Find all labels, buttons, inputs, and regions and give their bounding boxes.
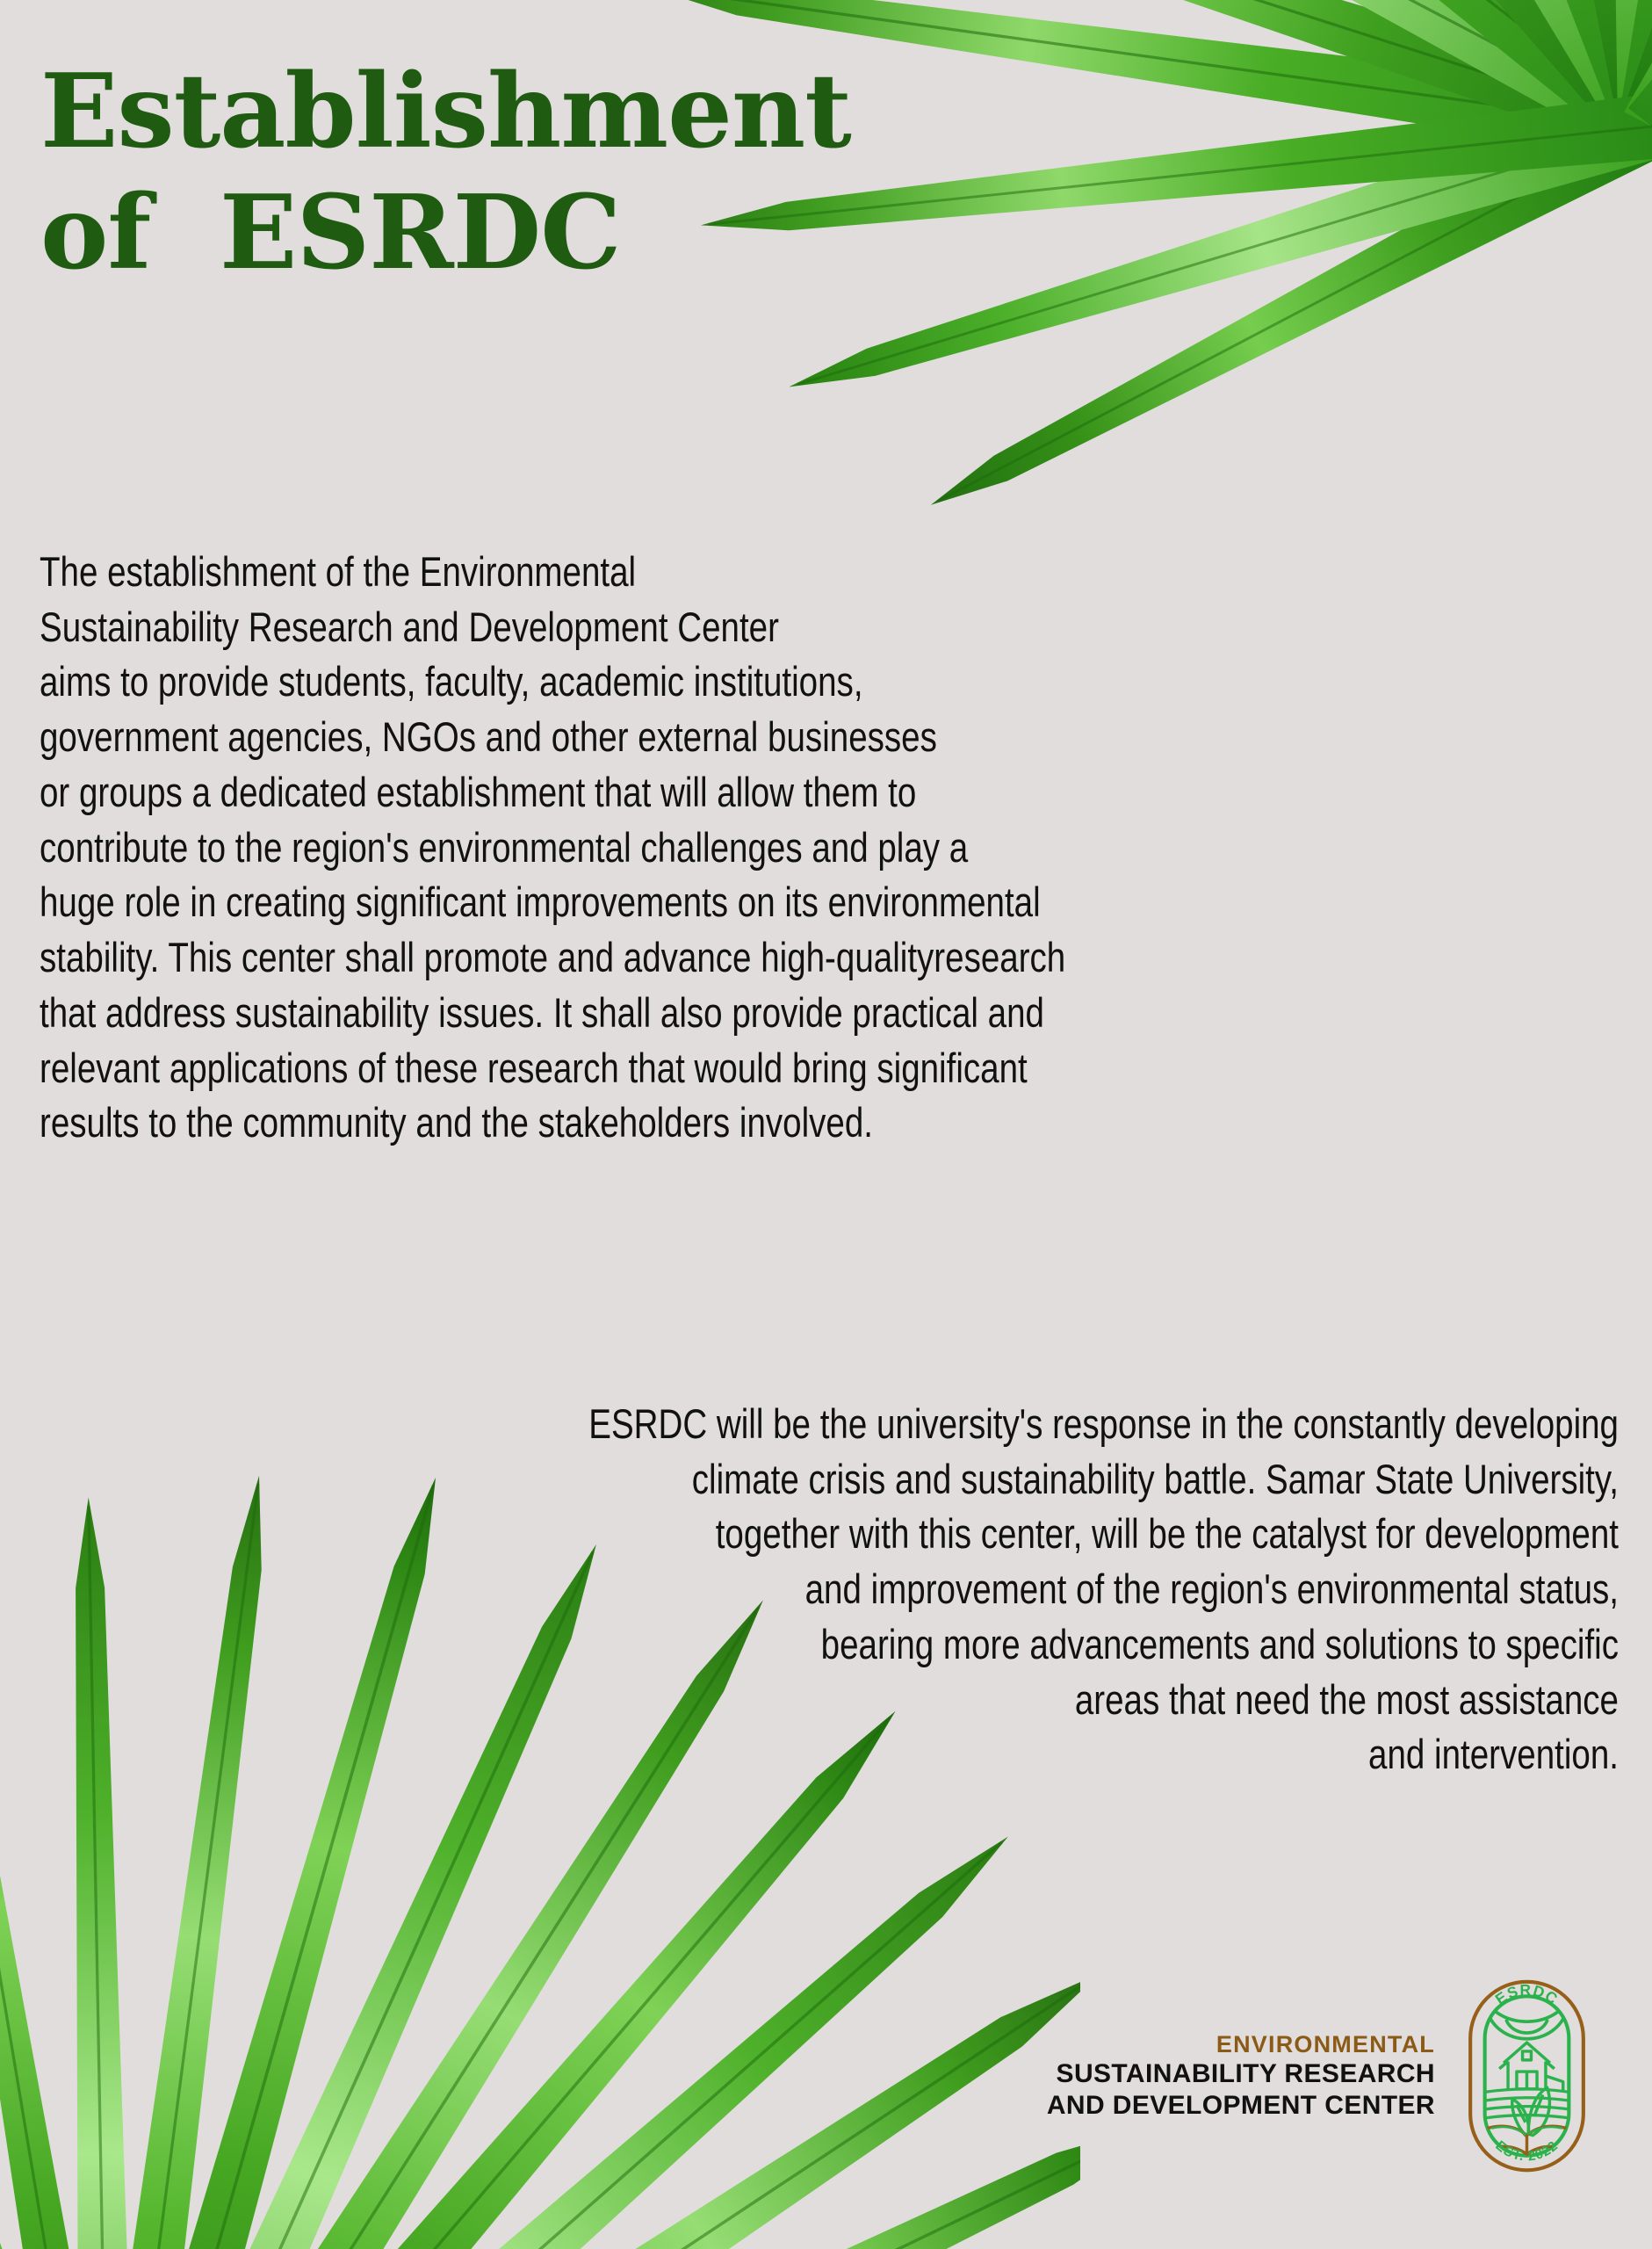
- paragraph-line: that address sustainability issues. It s…: [40, 986, 1646, 1041]
- paragraph-line: together with this center, will be the c…: [437, 1507, 1619, 1562]
- paragraph-line: and improvement of the region's environm…: [437, 1562, 1619, 1617]
- esrdc-crest-icon: ESRDC EST. 2022: [1454, 1966, 1599, 2186]
- paragraph-line: aims to provide students, faculty, acade…: [40, 654, 1646, 710]
- wordmark-line-environmental: ENVIRONMENTAL: [1047, 2030, 1435, 2058]
- paragraph-line: stability. This center shall promote and…: [40, 930, 1646, 986]
- paragraph-university-response: ESRDC will be the university's response …: [437, 1397, 1619, 1783]
- paragraph-line: Sustainability Research and Development …: [40, 600, 1646, 655]
- page-title: Establishment of ESRDC: [40, 51, 1094, 293]
- logo-wordmark: ENVIRONMENTAL SUSTAINABILITY RESEARCH AN…: [1047, 2030, 1435, 2122]
- paragraph-line: relevant applications of these research …: [40, 1041, 1646, 1096]
- paragraph-line: The establishment of the Environmental: [40, 545, 1646, 600]
- wordmark-line-sustainability-research: SUSTAINABILITY RESEARCH: [1047, 2058, 1435, 2090]
- paragraph-line: climate crisis and sustainability battle…: [437, 1452, 1619, 1508]
- house-icon: [1499, 2043, 1563, 2090]
- paragraph-line: results to the community and the stakeho…: [40, 1096, 1646, 1151]
- paragraph-line: government agencies, NGOs and other exte…: [40, 710, 1646, 765]
- paragraph-line: areas that need the most assistance: [437, 1673, 1619, 1728]
- paragraph-line: ESRDC will be the university's response …: [437, 1397, 1619, 1452]
- title-line-1: Establishment: [40, 51, 1094, 172]
- title-line-2: of ESRDC: [40, 172, 1094, 293]
- paragraph-line: huge role in creating significant improv…: [40, 875, 1646, 930]
- paragraph-line: contribute to the region's environmental…: [40, 821, 1646, 876]
- paragraph-line: and intervention.: [437, 1727, 1619, 1783]
- paragraph-line: bearing more advancements and solutions …: [437, 1617, 1619, 1673]
- esrdc-logo-lockup: ENVIRONMENTAL SUSTAINABILITY RESEARCH AN…: [1047, 1966, 1599, 2186]
- paragraph-establishment-purpose: The establishment of the Environmental S…: [40, 545, 1646, 1151]
- poster-canvas: Establishment of ESRDC The establishment…: [0, 0, 1652, 2249]
- emblem-top-label: ESRDC: [1492, 1981, 1562, 2008]
- paragraph-line: or groups a dedicated establishment that…: [40, 765, 1646, 821]
- wordmark-line-and-development-center: AND DEVELOPMENT CENTER: [1047, 2090, 1435, 2122]
